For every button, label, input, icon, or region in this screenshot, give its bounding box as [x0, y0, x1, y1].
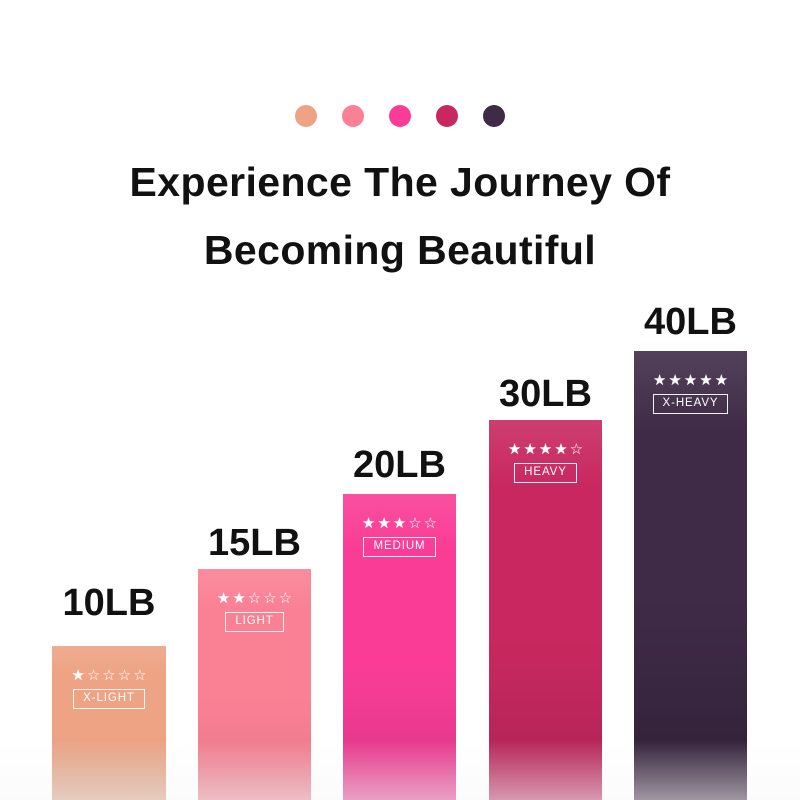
bar-30lb[interactable]: ★★★★☆HEAVY — [489, 420, 602, 800]
star-filled-icon: ★ — [523, 442, 536, 457]
bar-badge: ★☆☆☆☆X-LIGHT — [52, 668, 166, 709]
bar-weight-label: 15LB — [198, 524, 311, 562]
star-empty-icon: ☆ — [279, 591, 292, 606]
bar-group-10lb[interactable]: ★☆☆☆☆X-LIGHT10LB — [52, 646, 166, 800]
star-filled-icon: ★ — [362, 516, 375, 531]
bar-weight-label: 20LB — [343, 446, 456, 484]
star-empty-icon: ☆ — [248, 591, 261, 606]
star-filled-icon: ★ — [653, 373, 666, 388]
star-empty-icon: ☆ — [133, 668, 146, 683]
bar-group-40lb[interactable]: ★★★★★X-HEAVY40LB — [634, 351, 747, 800]
level-chip: MEDIUM — [363, 537, 435, 557]
bar-weight-label: 40LB — [634, 303, 747, 341]
star-filled-icon: ★ — [554, 442, 567, 457]
star-filled-icon: ★ — [71, 668, 84, 683]
infographic-root: Experience The Journey Of Becoming Beaut… — [0, 0, 800, 800]
bar-badge: ★★★☆☆MEDIUM — [343, 516, 456, 557]
star-empty-icon: ☆ — [118, 668, 131, 683]
star-rating: ★★☆☆☆ — [217, 591, 292, 606]
bar-badge: ★★☆☆☆LIGHT — [198, 591, 311, 632]
star-rating: ★★★★☆ — [508, 442, 583, 457]
star-filled-icon: ★ — [232, 591, 245, 606]
bar-20lb[interactable]: ★★★☆☆MEDIUM — [343, 494, 456, 800]
bar-group-15lb[interactable]: ★★☆☆☆LIGHT15LB — [198, 569, 311, 800]
star-filled-icon: ★ — [539, 442, 552, 457]
star-empty-icon: ☆ — [570, 442, 583, 457]
star-empty-icon: ☆ — [424, 516, 437, 531]
bar-badge: ★★★★★X-HEAVY — [634, 373, 747, 414]
level-chip: X-HEAVY — [653, 394, 729, 414]
bar-10lb[interactable]: ★☆☆☆☆X-LIGHT — [52, 646, 166, 800]
star-filled-icon: ★ — [217, 591, 230, 606]
star-empty-icon: ☆ — [408, 516, 421, 531]
level-chip: HEAVY — [514, 463, 577, 483]
bar-40lb[interactable]: ★★★★★X-HEAVY — [634, 351, 747, 800]
bar-badge: ★★★★☆HEAVY — [489, 442, 602, 483]
bar-sheen — [634, 351, 747, 800]
star-filled-icon: ★ — [684, 373, 697, 388]
resistance-bar-chart: ★☆☆☆☆X-LIGHT10LB★★☆☆☆LIGHT15LB★★★☆☆MEDIU… — [0, 0, 800, 800]
star-filled-icon: ★ — [377, 516, 390, 531]
star-filled-icon: ★ — [699, 373, 712, 388]
level-chip: LIGHT — [225, 612, 283, 632]
level-chip: X-LIGHT — [73, 689, 145, 709]
star-empty-icon: ☆ — [87, 668, 100, 683]
star-empty-icon: ☆ — [102, 668, 115, 683]
star-filled-icon: ★ — [715, 373, 728, 388]
star-filled-icon: ★ — [668, 373, 681, 388]
star-empty-icon: ☆ — [263, 591, 276, 606]
bar-weight-label: 10LB — [52, 584, 166, 622]
star-filled-icon: ★ — [393, 516, 406, 531]
star-filled-icon: ★ — [508, 442, 521, 457]
bar-group-20lb[interactable]: ★★★☆☆MEDIUM20LB — [343, 494, 456, 800]
star-rating: ★★★☆☆ — [362, 516, 437, 531]
bar-15lb[interactable]: ★★☆☆☆LIGHT — [198, 569, 311, 800]
bar-group-30lb[interactable]: ★★★★☆HEAVY30LB — [489, 420, 602, 800]
bar-weight-label: 30LB — [489, 375, 602, 413]
star-rating: ★★★★★ — [653, 373, 728, 388]
star-rating: ★☆☆☆☆ — [71, 668, 146, 683]
